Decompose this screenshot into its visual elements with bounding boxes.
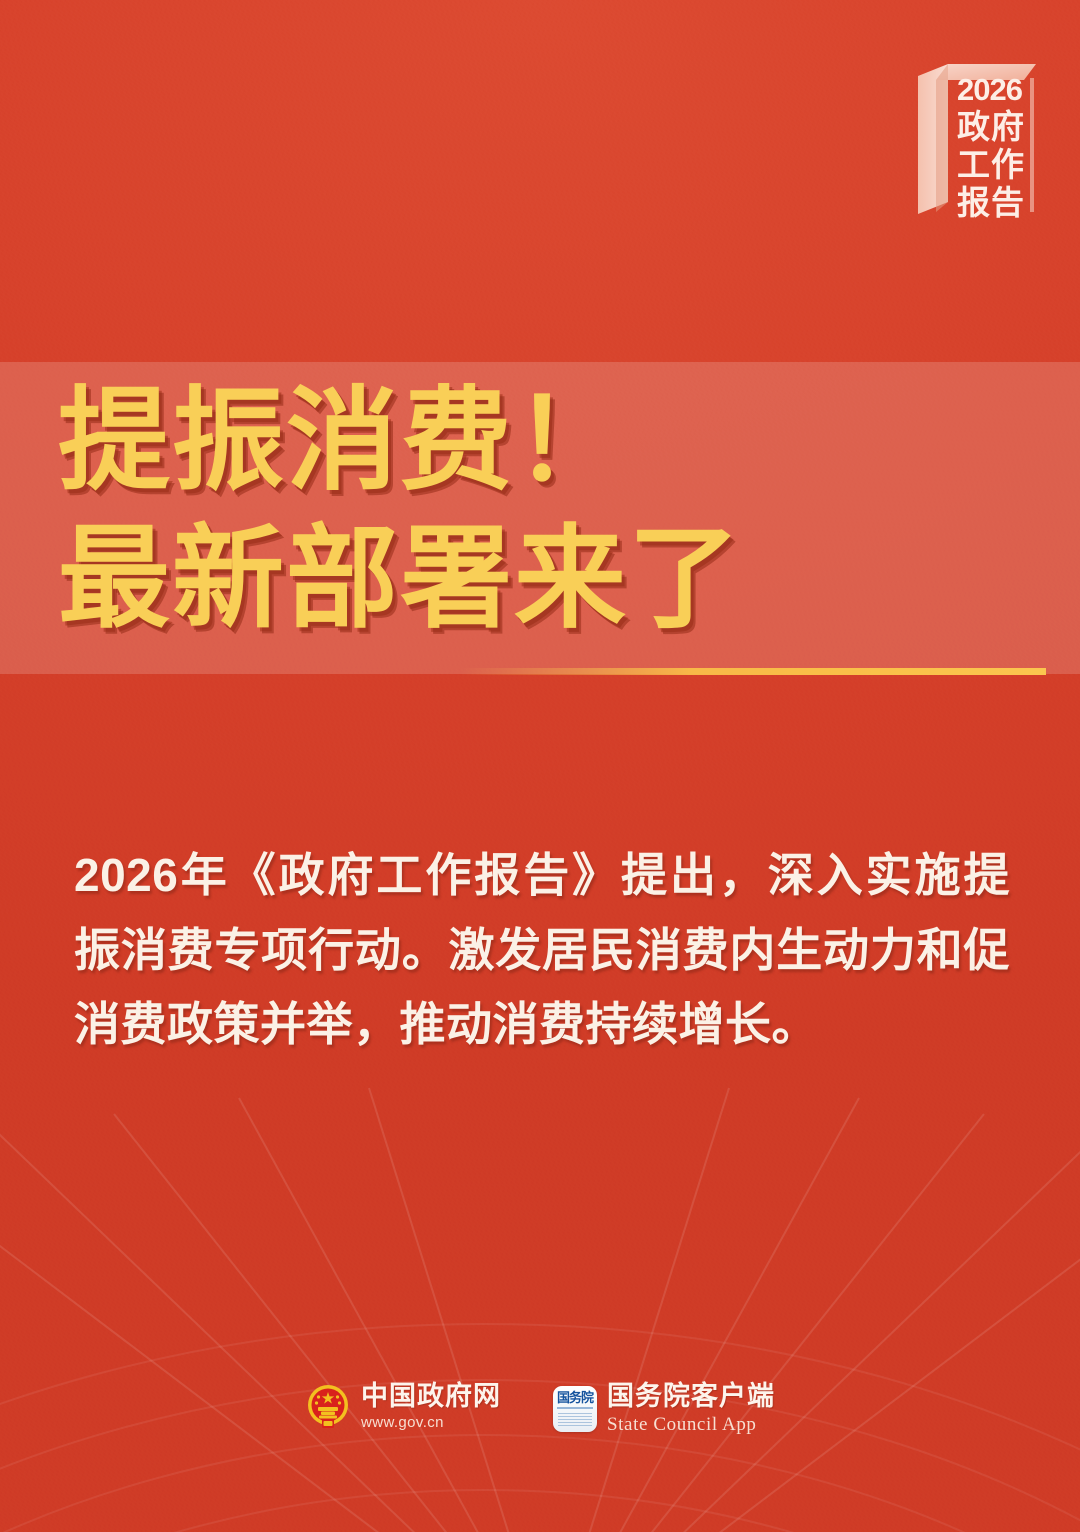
footer-label-en: State Council App (607, 1414, 775, 1437)
footer-item-state-council-app[interactable]: 国务院 国务院客户端 State Council App (553, 1382, 775, 1437)
poster-root: 2026 政府 工作 报告 提振消费！ 最新部署来了 2026年《政府工作报告》… (0, 0, 1080, 1532)
body-paragraph: 2026年《政府工作报告》提出，深入实施提振消费专项行动。激发居民消费内生动力和… (74, 838, 1010, 1062)
footer-text-state-council-app: 国务院客户端 State Council App (607, 1382, 775, 1437)
footer-item-gov-cn[interactable]: 中国政府网 www.gov.cn (305, 1382, 501, 1432)
footer-label-cn: 国务院客户端 (607, 1382, 775, 1411)
footer-label-cn: 中国政府网 (361, 1382, 501, 1411)
app-icon-rule (557, 1407, 593, 1409)
background-base (0, 0, 1080, 1532)
footer-branding: 中国政府网 www.gov.cn 国务院 国务院客户端 State Counci… (0, 1382, 1080, 1437)
state-council-app-icon: 国务院 (553, 1386, 597, 1432)
svg-text:政府: 政府 (957, 108, 1025, 145)
gold-divider-rule (0, 668, 1046, 675)
headline-line-2: 最新部署来了 (58, 506, 1018, 652)
report-book-logo: 2026 政府 工作 报告 (912, 52, 1044, 224)
svg-text:2026: 2026 (957, 72, 1023, 107)
footer-label-en: www.gov.cn (361, 1414, 501, 1432)
svg-text:工作: 工作 (957, 146, 1025, 183)
app-icon-label: 国务院 (553, 1391, 597, 1404)
china-national-emblem-icon (305, 1382, 351, 1432)
app-icon-lines (558, 1413, 592, 1427)
footer-text-gov-cn: 中国政府网 www.gov.cn (361, 1382, 501, 1432)
headline-line-1: 提振消费！ (58, 368, 1018, 514)
svg-text:报告: 报告 (957, 184, 1025, 221)
headline-block: 提振消费！ 最新部署来了 (58, 368, 1018, 651)
